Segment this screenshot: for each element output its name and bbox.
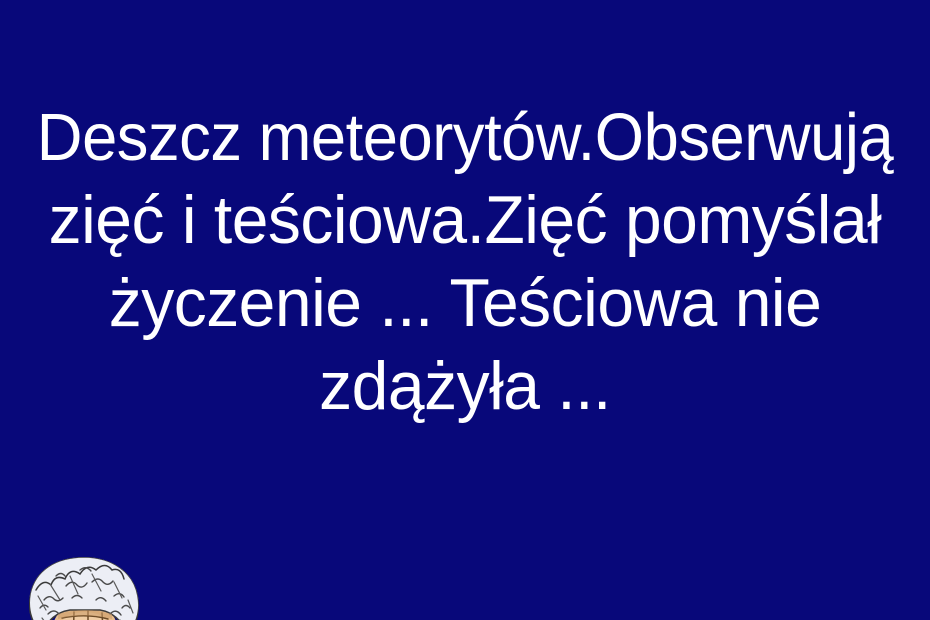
caption-text-block: Deszcz meteorytów.Obserwują zięć i teści… bbox=[0, 96, 930, 428]
caption-line-4: zdążyła ... bbox=[14, 345, 916, 428]
caption-line-1: Deszcz meteorytów.Obserwują bbox=[26, 96, 905, 179]
elderly-woman-cartoon-icon bbox=[26, 556, 144, 620]
meme-canvas: Deszcz meteorytów.Obserwują zięć i teści… bbox=[0, 0, 930, 620]
caption-line-3: życzenie ... Teściowa nie bbox=[14, 262, 916, 345]
caption-line-2: zięć i teściowa.Zięć pomyślał bbox=[14, 179, 916, 262]
